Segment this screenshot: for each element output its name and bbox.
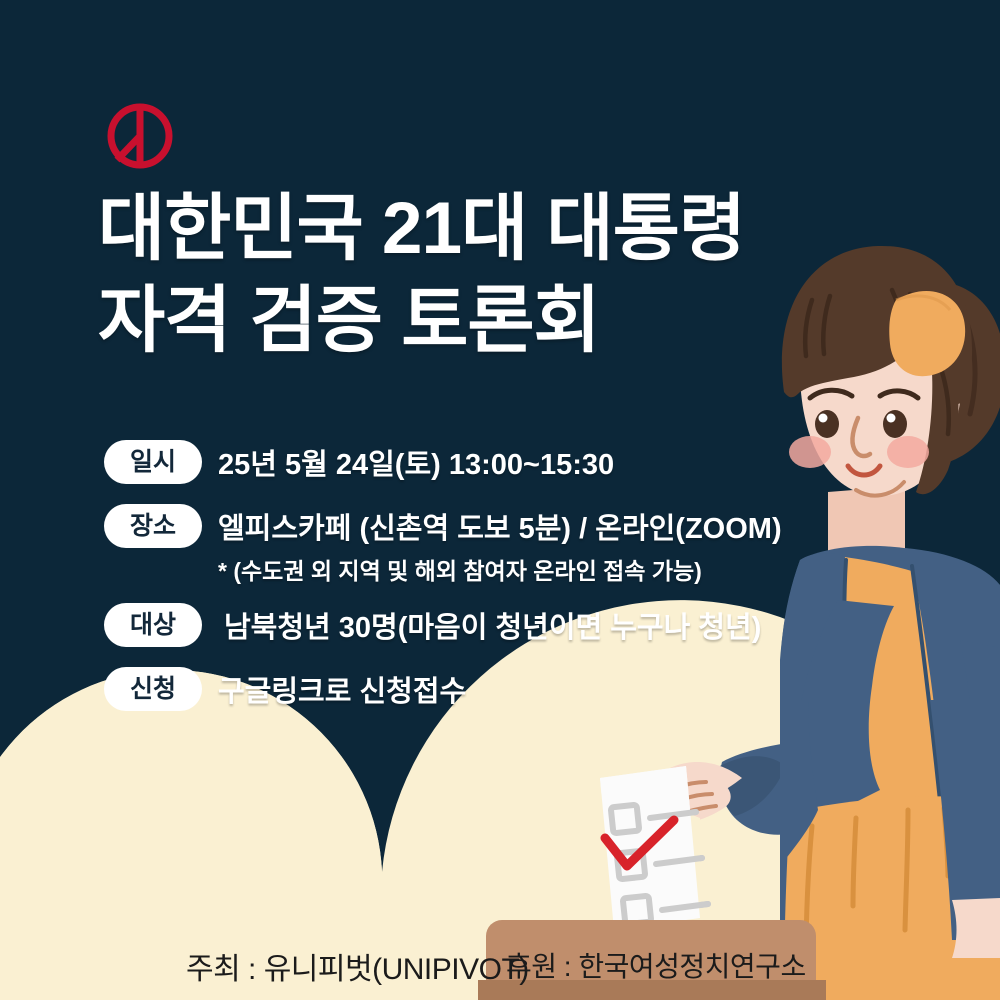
location-note: * (수도권 외 지역 및 해외 참여자 온라인 접속 가능): [218, 552, 782, 586]
detail-row-location: 장소 엘피스카페 (신촌역 도보 5분) / 온라인(ZOOM): [104, 501, 782, 550]
left-eye: [815, 410, 839, 438]
detail-row-datetime: 일시 25년 5월 24일(토) 13:00~15:30: [104, 437, 782, 486]
detail-value-audience: 남북청년 30명(마음이 청년이면 누구나 청년): [224, 604, 761, 646]
ballot-front-layer: [600, 766, 708, 930]
hair-tie: [889, 291, 965, 376]
detail-value-location: 엘피스카페 (신촌역 도보 5분) / 온라인(ZOOM): [218, 505, 782, 547]
red-checkmark: [605, 820, 674, 866]
detail-label-apply: 신청: [104, 667, 202, 711]
detail-value-apply: 구글링크로 신청접수: [218, 668, 466, 710]
left-blush: [789, 436, 831, 468]
detail-label-datetime: 일시: [104, 440, 202, 484]
unipivot-peace-icon: [104, 100, 176, 172]
head: [782, 246, 972, 496]
right-blush: [887, 436, 929, 468]
event-poster: 대한민국 21대 대통령 자격 검증 토론회 일시 25년 5월 24일(토) …: [0, 0, 1000, 1000]
detail-row-apply: 신청 구글링크로 신청접수: [104, 664, 782, 713]
logo: [104, 100, 176, 172]
detail-row-audience: 대상 남북청년 30명(마음이 청년이면 누구나 청년): [104, 600, 782, 649]
event-details: 일시 25년 5월 24일(토) 13:00~15:30 장소 엘피스카페 (신…: [104, 437, 782, 728]
title-line-2: 자격 검증 토론회: [98, 275, 745, 367]
right-eye: [883, 410, 907, 438]
detail-label-location: 장소: [104, 504, 202, 548]
cardigan: [780, 546, 1000, 1000]
title-line-1: 대한민국 21대 대통령: [98, 183, 745, 275]
ponytail: [866, 281, 1000, 466]
footer-host: 주최 : 유니피벗(UNIPIVOT): [186, 944, 529, 988]
detail-label-audience: 대상: [104, 603, 202, 647]
footer-sponsor: 후원 : 한국여성정치연구소: [506, 945, 806, 985]
skirt: [780, 700, 1000, 1000]
ballot-paper: [600, 766, 708, 930]
detail-value-datetime: 25년 5월 24일(토) 13:00~15:30: [218, 441, 614, 483]
left-arm: [960, 640, 1000, 956]
page-title: 대한민국 21대 대통령 자격 검증 토론회: [98, 183, 745, 367]
